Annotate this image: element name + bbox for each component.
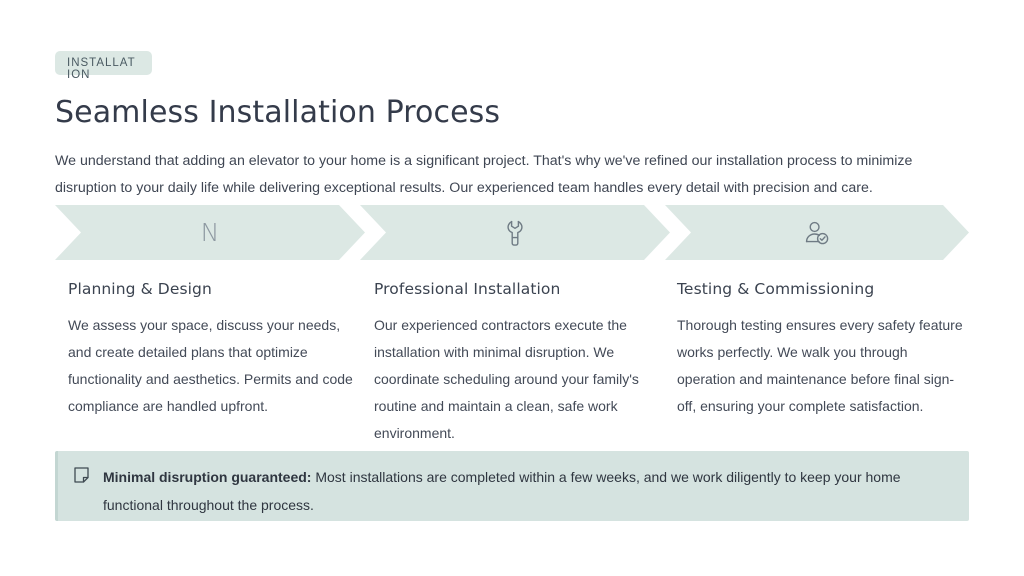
section-badge: INSTALLATION xyxy=(55,51,152,75)
step-heading-3: Testing & Commissioning xyxy=(677,276,965,303)
step-body-3: Thorough testing ensures every safety fe… xyxy=(677,312,965,420)
letter-n-glyph-icon: N xyxy=(55,205,365,260)
step-column-3: Testing & Commissioning Thorough testing… xyxy=(677,276,965,420)
steps-chevron-strip: N xyxy=(55,205,969,260)
installation-process-section: INSTALLATION Seamless Installation Proce… xyxy=(0,0,1024,576)
page-title: Seamless Installation Process xyxy=(55,89,675,127)
wrench-icon xyxy=(360,205,670,260)
callout-text: Minimal disruption guaranteed: Most inst… xyxy=(103,463,951,519)
step-body-2: Our experienced contractors execute the … xyxy=(374,312,662,447)
step-body-1: We assess your space, discuss your needs… xyxy=(68,312,356,420)
sticky-note-icon xyxy=(74,467,89,488)
callout-lead: Minimal disruption guaranteed: xyxy=(103,469,311,485)
step-column-1: Planning & Design We assess your space, … xyxy=(68,276,356,420)
step-heading-1: Planning & Design xyxy=(68,276,356,303)
callout-banner: Minimal disruption guaranteed: Most inst… xyxy=(55,451,969,521)
step-column-2: Professional Installation Our experience… xyxy=(374,276,662,447)
badge-container: INSTALLATION xyxy=(55,51,255,91)
step-heading-2: Professional Installation xyxy=(374,276,662,303)
user-check-icon xyxy=(665,205,969,260)
intro-paragraph: We understand that adding an elevator to… xyxy=(55,148,965,202)
